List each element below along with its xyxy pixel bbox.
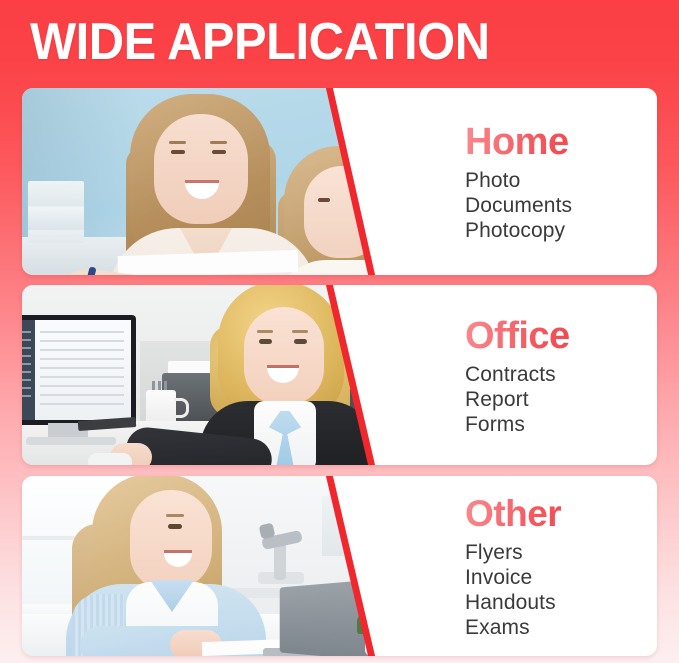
card-list-home: Photo Documents Photocopy bbox=[465, 168, 657, 243]
card-text-office: Office Contracts Report Forms bbox=[465, 285, 657, 465]
application-card-other[interactable]: Other Flyers Invoice Handouts Exams bbox=[22, 476, 657, 656]
list-item: Documents bbox=[465, 193, 657, 218]
application-card-home[interactable]: Home Photo Documents Photocopy bbox=[22, 88, 657, 275]
list-item: Contracts bbox=[465, 362, 657, 387]
page-title: WIDE APPLICATION bbox=[30, 16, 490, 68]
books-stack-icon bbox=[28, 181, 84, 243]
office-scene-illustration bbox=[22, 285, 397, 465]
list-item: Report bbox=[465, 387, 657, 412]
wide-application-poster: WIDE APPLICATION bbox=[0, 0, 679, 663]
home-scene-illustration bbox=[22, 88, 397, 275]
list-item: Exams bbox=[465, 615, 657, 640]
other-scene-illustration bbox=[22, 476, 397, 656]
application-card-office[interactable]: Office Contracts Report Forms bbox=[22, 285, 657, 465]
card-photo-other bbox=[22, 476, 397, 656]
card-text-home: Home Photo Documents Photocopy bbox=[465, 88, 657, 275]
mouse-icon bbox=[88, 453, 132, 465]
card-list-office: Contracts Report Forms bbox=[465, 362, 657, 437]
list-item: Handouts bbox=[465, 590, 657, 615]
card-title-home: Home bbox=[465, 120, 657, 164]
card-photo-home bbox=[22, 88, 397, 275]
card-list-other: Flyers Invoice Handouts Exams bbox=[465, 540, 657, 640]
card-photo-office bbox=[22, 285, 397, 465]
card-title-office: Office bbox=[465, 314, 657, 358]
list-item: Invoice bbox=[465, 565, 657, 590]
card-text-other: Other Flyers Invoice Handouts Exams bbox=[465, 476, 657, 656]
card-title-other: Other bbox=[465, 492, 657, 536]
plant-icon bbox=[357, 592, 397, 634]
list-item: Forms bbox=[465, 412, 657, 437]
list-item: Photo bbox=[465, 168, 657, 193]
list-item: Flyers bbox=[465, 540, 657, 565]
list-item: Photocopy bbox=[465, 218, 657, 243]
